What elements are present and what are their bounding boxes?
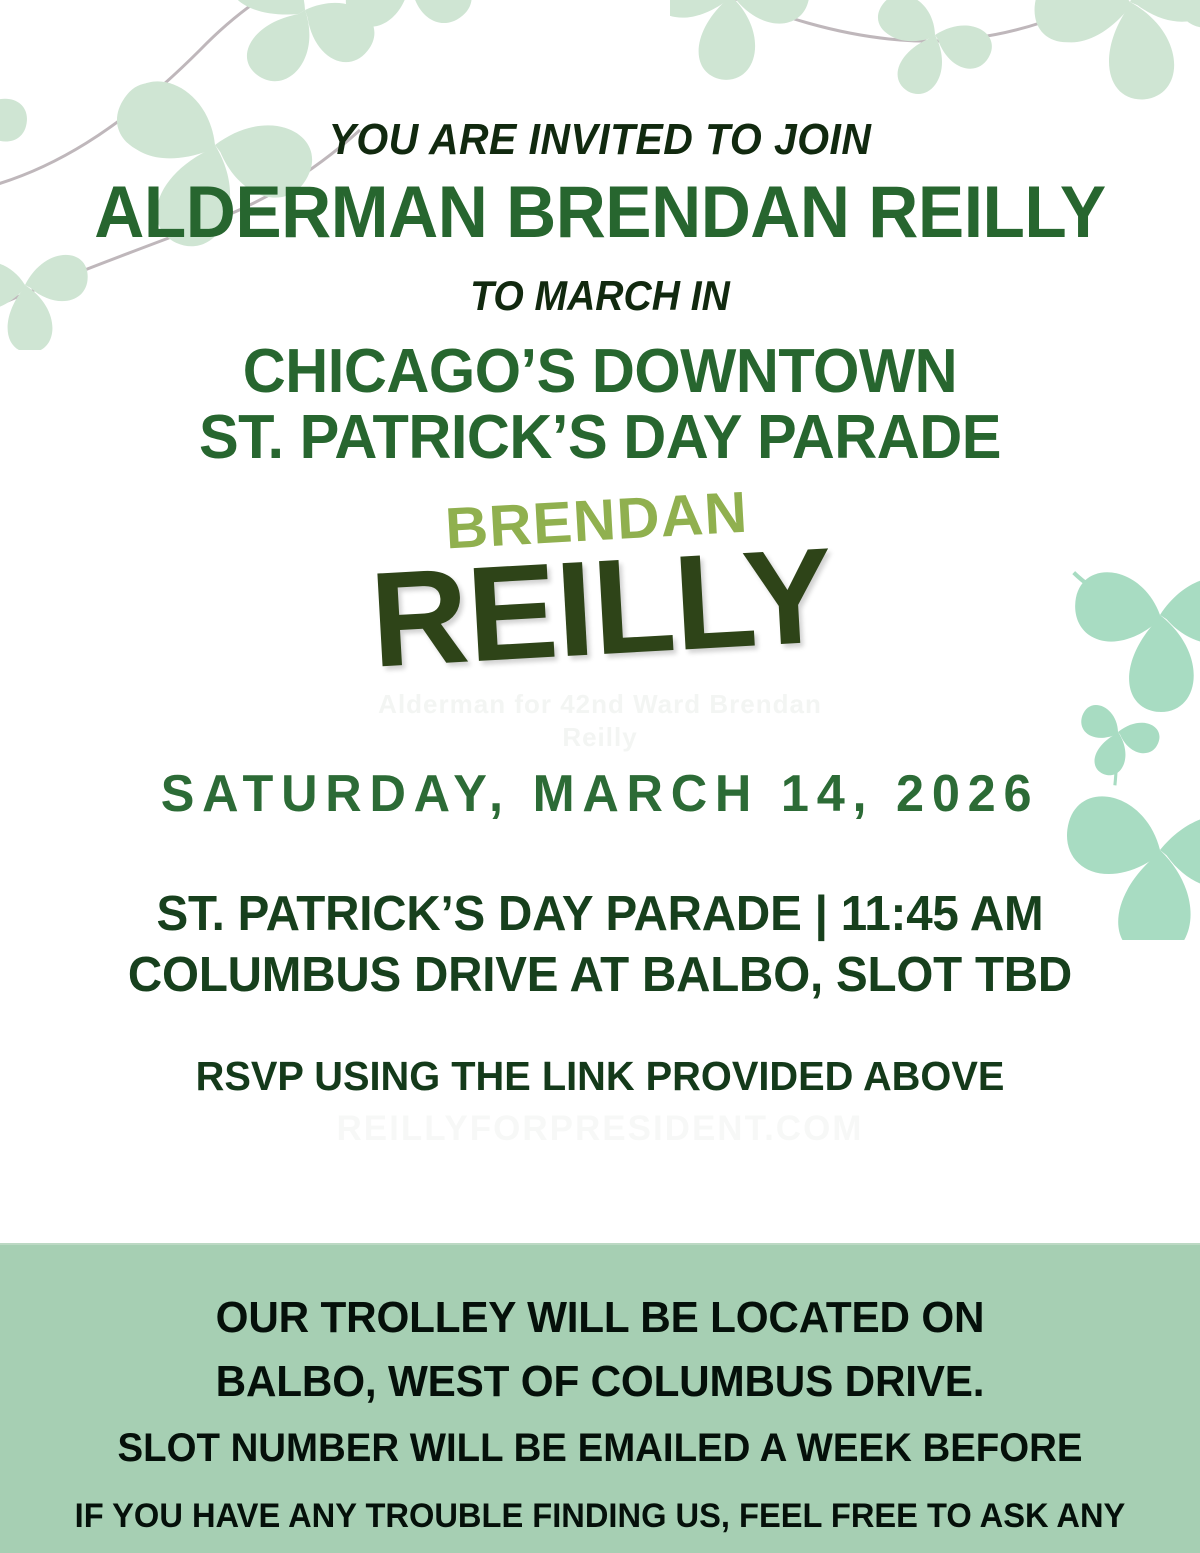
help-text-line-2: PARADE MARSHAL, AND THEY WILL BE ABLE TO… <box>24 1543 1176 1553</box>
event-details-line-1: ST. PATRICK’S DAY PARADE | 11:45 AM <box>18 884 1182 945</box>
campaign-logo: BRENDAN REILLY Alderman for 42nd Ward Br… <box>0 492 1200 752</box>
invite-line: YOU ARE INVITED TO JOIN <box>42 0 1158 162</box>
help-text: IF YOU HAVE ANY TROUBLE FINDING US, FEEL… <box>24 1468 1176 1553</box>
rsvp-instruction: RSVP USING THE LINK PROVIDED ABOVE <box>18 1006 1182 1097</box>
trolley-location-line-1: OUR TROLLEY WILL BE LOCATED ON <box>24 1286 1176 1350</box>
flyer-content: YOU ARE INVITED TO JOIN ALDERMAN BRENDAN… <box>0 0 1200 1146</box>
footer-info-panel: OUR TROLLEY WILL BE LOCATED ON BALBO, WE… <box>0 1243 1200 1553</box>
to-march-line: TO MARCH IN <box>42 249 1158 317</box>
event-details-line-2: COLUMBUS DRIVE AT BALBO, SLOT TBD <box>18 945 1182 1006</box>
slot-number-text: SLOT NUMBER WILL BE EMAILED A WEEK BEFOR… <box>24 1414 1176 1468</box>
trolley-location-text: OUR TROLLEY WILL BE LOCATED ON BALBO, WE… <box>24 1245 1176 1414</box>
event-date: SATURDAY, MARCH 14, 2026 <box>18 752 1182 820</box>
help-text-line-1: IF YOU HAVE ANY TROUBLE FINDING US, FEEL… <box>24 1490 1176 1543</box>
event-title-heading: CHICAGO’S DOWNTOWN ST. PATRICK’S DAY PAR… <box>24 317 1176 470</box>
event-title-line-2: ST. PATRICK’S DAY PARADE <box>24 405 1176 471</box>
flyer-page: YOU ARE INVITED TO JOIN ALDERMAN BRENDAN… <box>0 0 1200 1553</box>
rsvp-watermark-text: REILLYFORPRESIDENT.COM <box>0 1097 1200 1146</box>
campaign-logo-text: BRENDAN REILLY <box>365 480 836 686</box>
trolley-location-line-2: BALBO, WEST OF COLUMBUS DRIVE. <box>24 1350 1176 1414</box>
honoree-name-heading: ALDERMAN BRENDAN REILLY <box>30 162 1170 249</box>
event-details: ST. PATRICK’S DAY PARADE | 11:45 AM COLU… <box>18 820 1182 1006</box>
event-title-line-1: CHICAGO’S DOWNTOWN <box>243 337 957 406</box>
logo-watermark-text: Alderman for 42nd Ward Brendan Reilly <box>340 688 860 753</box>
